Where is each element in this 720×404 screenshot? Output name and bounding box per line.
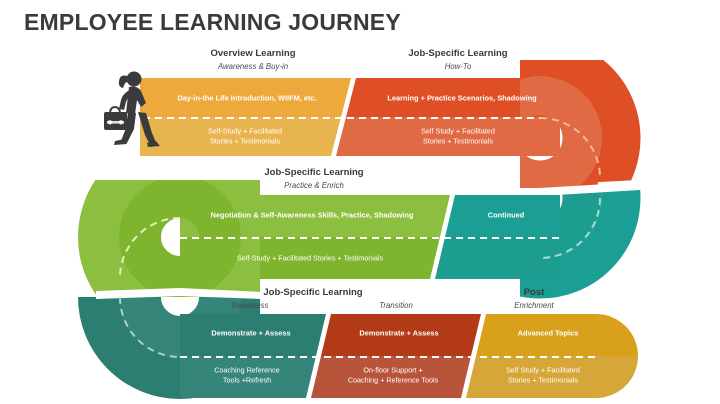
- segment-detail-negotiation-self-awareness: Self-Study + Facilitated Stories + Testi…: [237, 253, 383, 263]
- segment-detail-on-floor-support: On-floor Support +Coaching + Reference T…: [348, 366, 438, 385]
- subheader-awareness-buy-in: Awareness & Buy-in: [218, 62, 288, 71]
- segment-label-demonstrate-assess-transition: Demonstrate + Assess: [359, 329, 438, 338]
- segment-detail-advanced-topics: Self Study + FacilitatedStories + Testim…: [506, 366, 580, 385]
- segment-label-demonstrate-assess-readiness: Demonstrate + Assess: [211, 329, 290, 338]
- segment-detail-learning-practice-scenarios: Self Study + FacilitatedStories + Testim…: [421, 127, 495, 146]
- slide-canvas: EMPLOYEE LEARNING JOURNEY: [0, 0, 720, 404]
- header-post: Post: [524, 287, 545, 298]
- subheader-enrichment: Enrichment: [514, 301, 553, 310]
- subheader-readiness: Readiness: [232, 301, 269, 310]
- header-job-specific-learning-how-to: Job-Specific Learning: [408, 48, 507, 59]
- segment-detail-day-in-the-life: Self-Study + FacilitatedStories + Testim…: [208, 127, 282, 146]
- subheader-how-to: How-To: [445, 62, 472, 71]
- header-job-specific-learning-readiness: Job-Specific Learning: [263, 287, 362, 298]
- segment-label-negotiation-self-awareness: Negotiation & Self-Awareness Skills, Pra…: [211, 211, 414, 220]
- header-overview-learning: Overview Learning: [210, 48, 295, 59]
- subheader-practice-enrich: Practice & Enrich: [284, 181, 344, 190]
- subheader-transition: Transition: [379, 301, 413, 310]
- segment-label-continued: Continued: [488, 211, 525, 220]
- segment-detail-coaching-reference-tools: Coaching ReferenceTools +Refresh: [214, 366, 280, 385]
- segment-label-learning-practice-scenarios: Learning + Practice Scenarios, Shadowing: [387, 94, 536, 103]
- segment-label-day-in-the-life: Day-in-the Life Introduction, WIIFM, etc…: [177, 94, 316, 103]
- segment-label-advanced-topics: Advanced Topics: [518, 329, 579, 338]
- header-job-specific-learning-practice: Job-Specific Learning: [264, 167, 363, 178]
